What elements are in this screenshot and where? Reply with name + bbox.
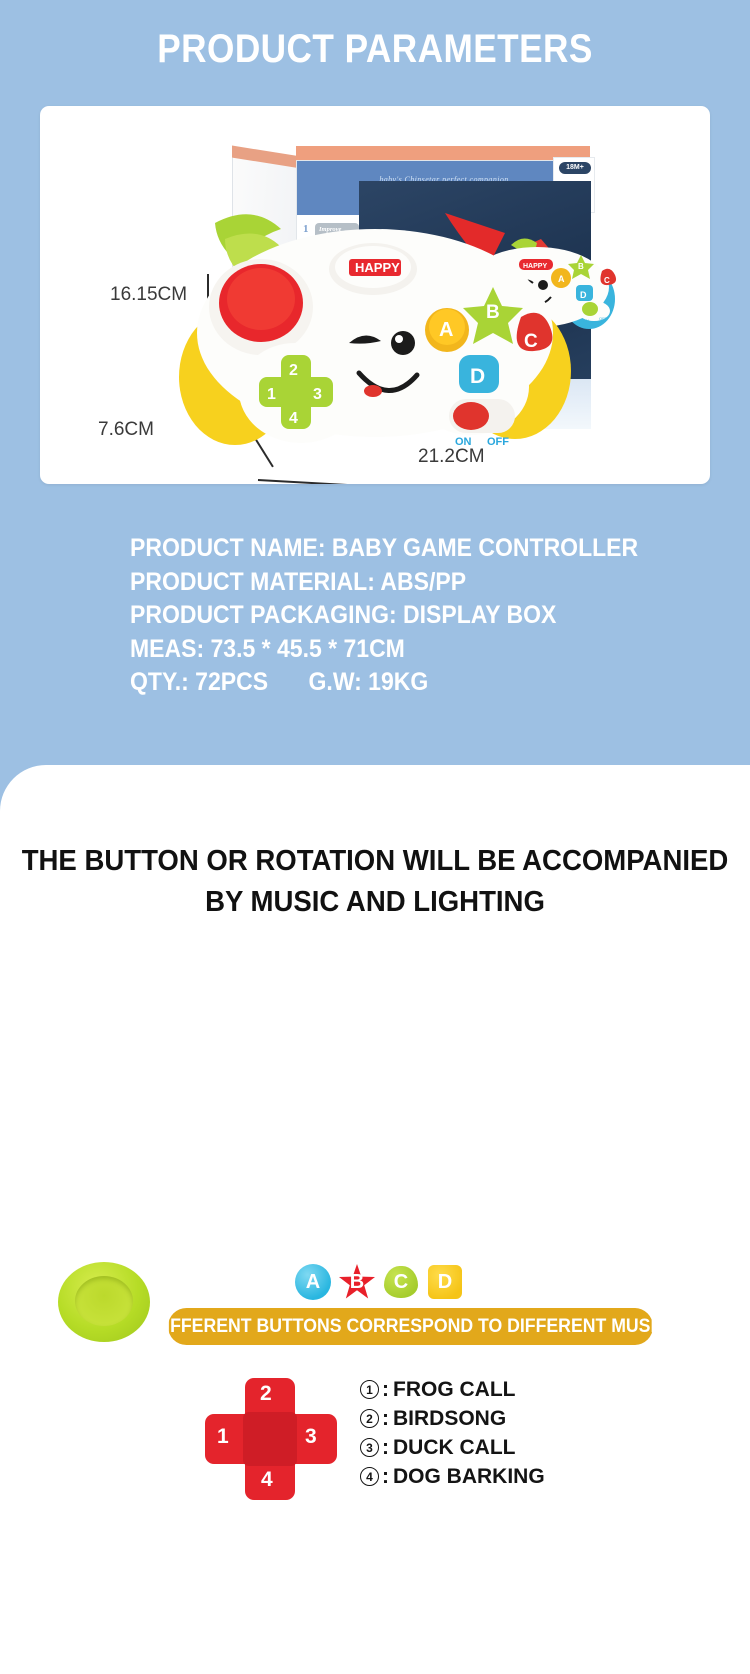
- dpad-number-3: 3: [305, 1425, 317, 1449]
- svg-text:ON: ON: [455, 436, 472, 448]
- depth-dimension-label: 7.6CM: [98, 419, 154, 441]
- sound-3-label: DUCK CALL: [393, 1436, 515, 1460]
- legend-button-d: D: [427, 1264, 463, 1300]
- feature-headline-line2: BY MUSIC AND LIGHTING: [19, 882, 732, 923]
- legend-d-label: D: [427, 1264, 463, 1300]
- controller-illustration: HAPPY 1 2 3 4 A B C D ON OFF: [155, 195, 595, 485]
- spec-gross-weight: G.W: 19KG: [309, 666, 429, 700]
- age-badge-text: 18M+: [559, 162, 591, 174]
- legend-button-c: C: [383, 1264, 419, 1300]
- sound-3-number: 3: [360, 1438, 379, 1457]
- sound-4-separator: :: [382, 1465, 389, 1489]
- sound-2-label: BIRDSONG: [393, 1407, 506, 1431]
- sound-4-number: 4: [360, 1467, 379, 1486]
- legend-button-a: A: [295, 1264, 331, 1300]
- svg-text:2: 2: [289, 362, 298, 379]
- svg-text:A: A: [439, 319, 453, 341]
- sound-item-1: 1 : FROG CALL: [360, 1375, 690, 1404]
- dpad-number-4: 4: [261, 1468, 273, 1492]
- feature-headline-line1: THE BUTTON OR ROTATION WILL BE ACCOMPANI…: [19, 841, 732, 882]
- box-front-top-edge: [296, 146, 590, 161]
- music-banner-text: DIFFERENT BUTTONS CORRESPOND TO DIFFEREN…: [153, 1316, 669, 1338]
- music-banner: DIFFERENT BUTTONS CORRESPOND TO DIFFEREN…: [168, 1308, 653, 1345]
- dpad-icon: 1 2 3 4: [205, 1378, 337, 1500]
- spec-qty: QTY.: 72PCS: [130, 666, 268, 700]
- svg-text:3: 3: [313, 386, 322, 403]
- svg-text:4: 4: [289, 410, 298, 427]
- sound-item-3: 3 : DUCK CALL: [360, 1433, 690, 1462]
- spec-meas: MEAS: 73.5 * 45.5 * 71CM: [130, 633, 645, 667]
- legend-button-b: B: [339, 1264, 375, 1300]
- svg-text:C: C: [604, 276, 610, 285]
- sound-1-number: 1: [360, 1380, 379, 1399]
- sound-1-label: FROG CALL: [393, 1378, 515, 1402]
- feature-headline: THE BUTTON OR ROTATION WILL BE ACCOMPANI…: [19, 841, 732, 923]
- legend-a-label: A: [295, 1264, 331, 1300]
- sound-3-separator: :: [382, 1436, 389, 1460]
- spec-product-material: PRODUCT MATERIAL: ABS/PP: [130, 566, 645, 600]
- spec-product-packaging: PRODUCT PACKAGING: DISPLAY BOX: [130, 599, 645, 633]
- sound-1-separator: :: [382, 1378, 389, 1402]
- sound-item-2: 2 : BIRDSONG: [360, 1404, 690, 1433]
- svg-text:OFF: OFF: [599, 316, 608, 321]
- svg-text:1: 1: [267, 386, 276, 403]
- sound-2-separator: :: [382, 1407, 389, 1431]
- svg-text:OFF: OFF: [487, 436, 509, 448]
- svg-text:C: C: [524, 331, 538, 352]
- feature-section: THE BUTTON OR ROTATION WILL BE ACCOMPANI…: [0, 765, 750, 1674]
- spec-product-name: PRODUCT NAME: BABY GAME CONTROLLER: [130, 532, 645, 566]
- dpad-number-1: 1: [217, 1425, 229, 1449]
- sound-2-number: 2: [360, 1409, 379, 1428]
- controller-product-image: HAPPY 1 2 3 4 A B C D ON OFF: [155, 195, 595, 485]
- joystick-cap-icon: [58, 1262, 150, 1342]
- page-title: PRODUCT PARAMETERS: [45, 27, 705, 72]
- dpad-sound-list: 1 : FROG CALL 2 : BIRDSONG 3 : DUCK CALL…: [360, 1375, 690, 1491]
- dpad-number-2: 2: [260, 1382, 272, 1406]
- svg-text:HAPPY: HAPPY: [355, 260, 400, 275]
- sound-item-4: 4 : DOG BARKING: [360, 1462, 690, 1491]
- svg-text:B: B: [486, 302, 500, 323]
- sound-4-label: DOG BARKING: [393, 1465, 545, 1489]
- spec-list: PRODUCT NAME: BABY GAME CONTROLLER PRODU…: [130, 532, 690, 700]
- dpad-center: [243, 1412, 297, 1466]
- spec-qty-gw-row: QTY.: 72PCS G.W: 19KG: [130, 666, 645, 700]
- legend-b-label: B: [339, 1264, 375, 1300]
- legend-c-label: C: [383, 1264, 419, 1300]
- svg-text:D: D: [470, 365, 485, 388]
- button-legend-row: A B C D: [295, 1258, 495, 1306]
